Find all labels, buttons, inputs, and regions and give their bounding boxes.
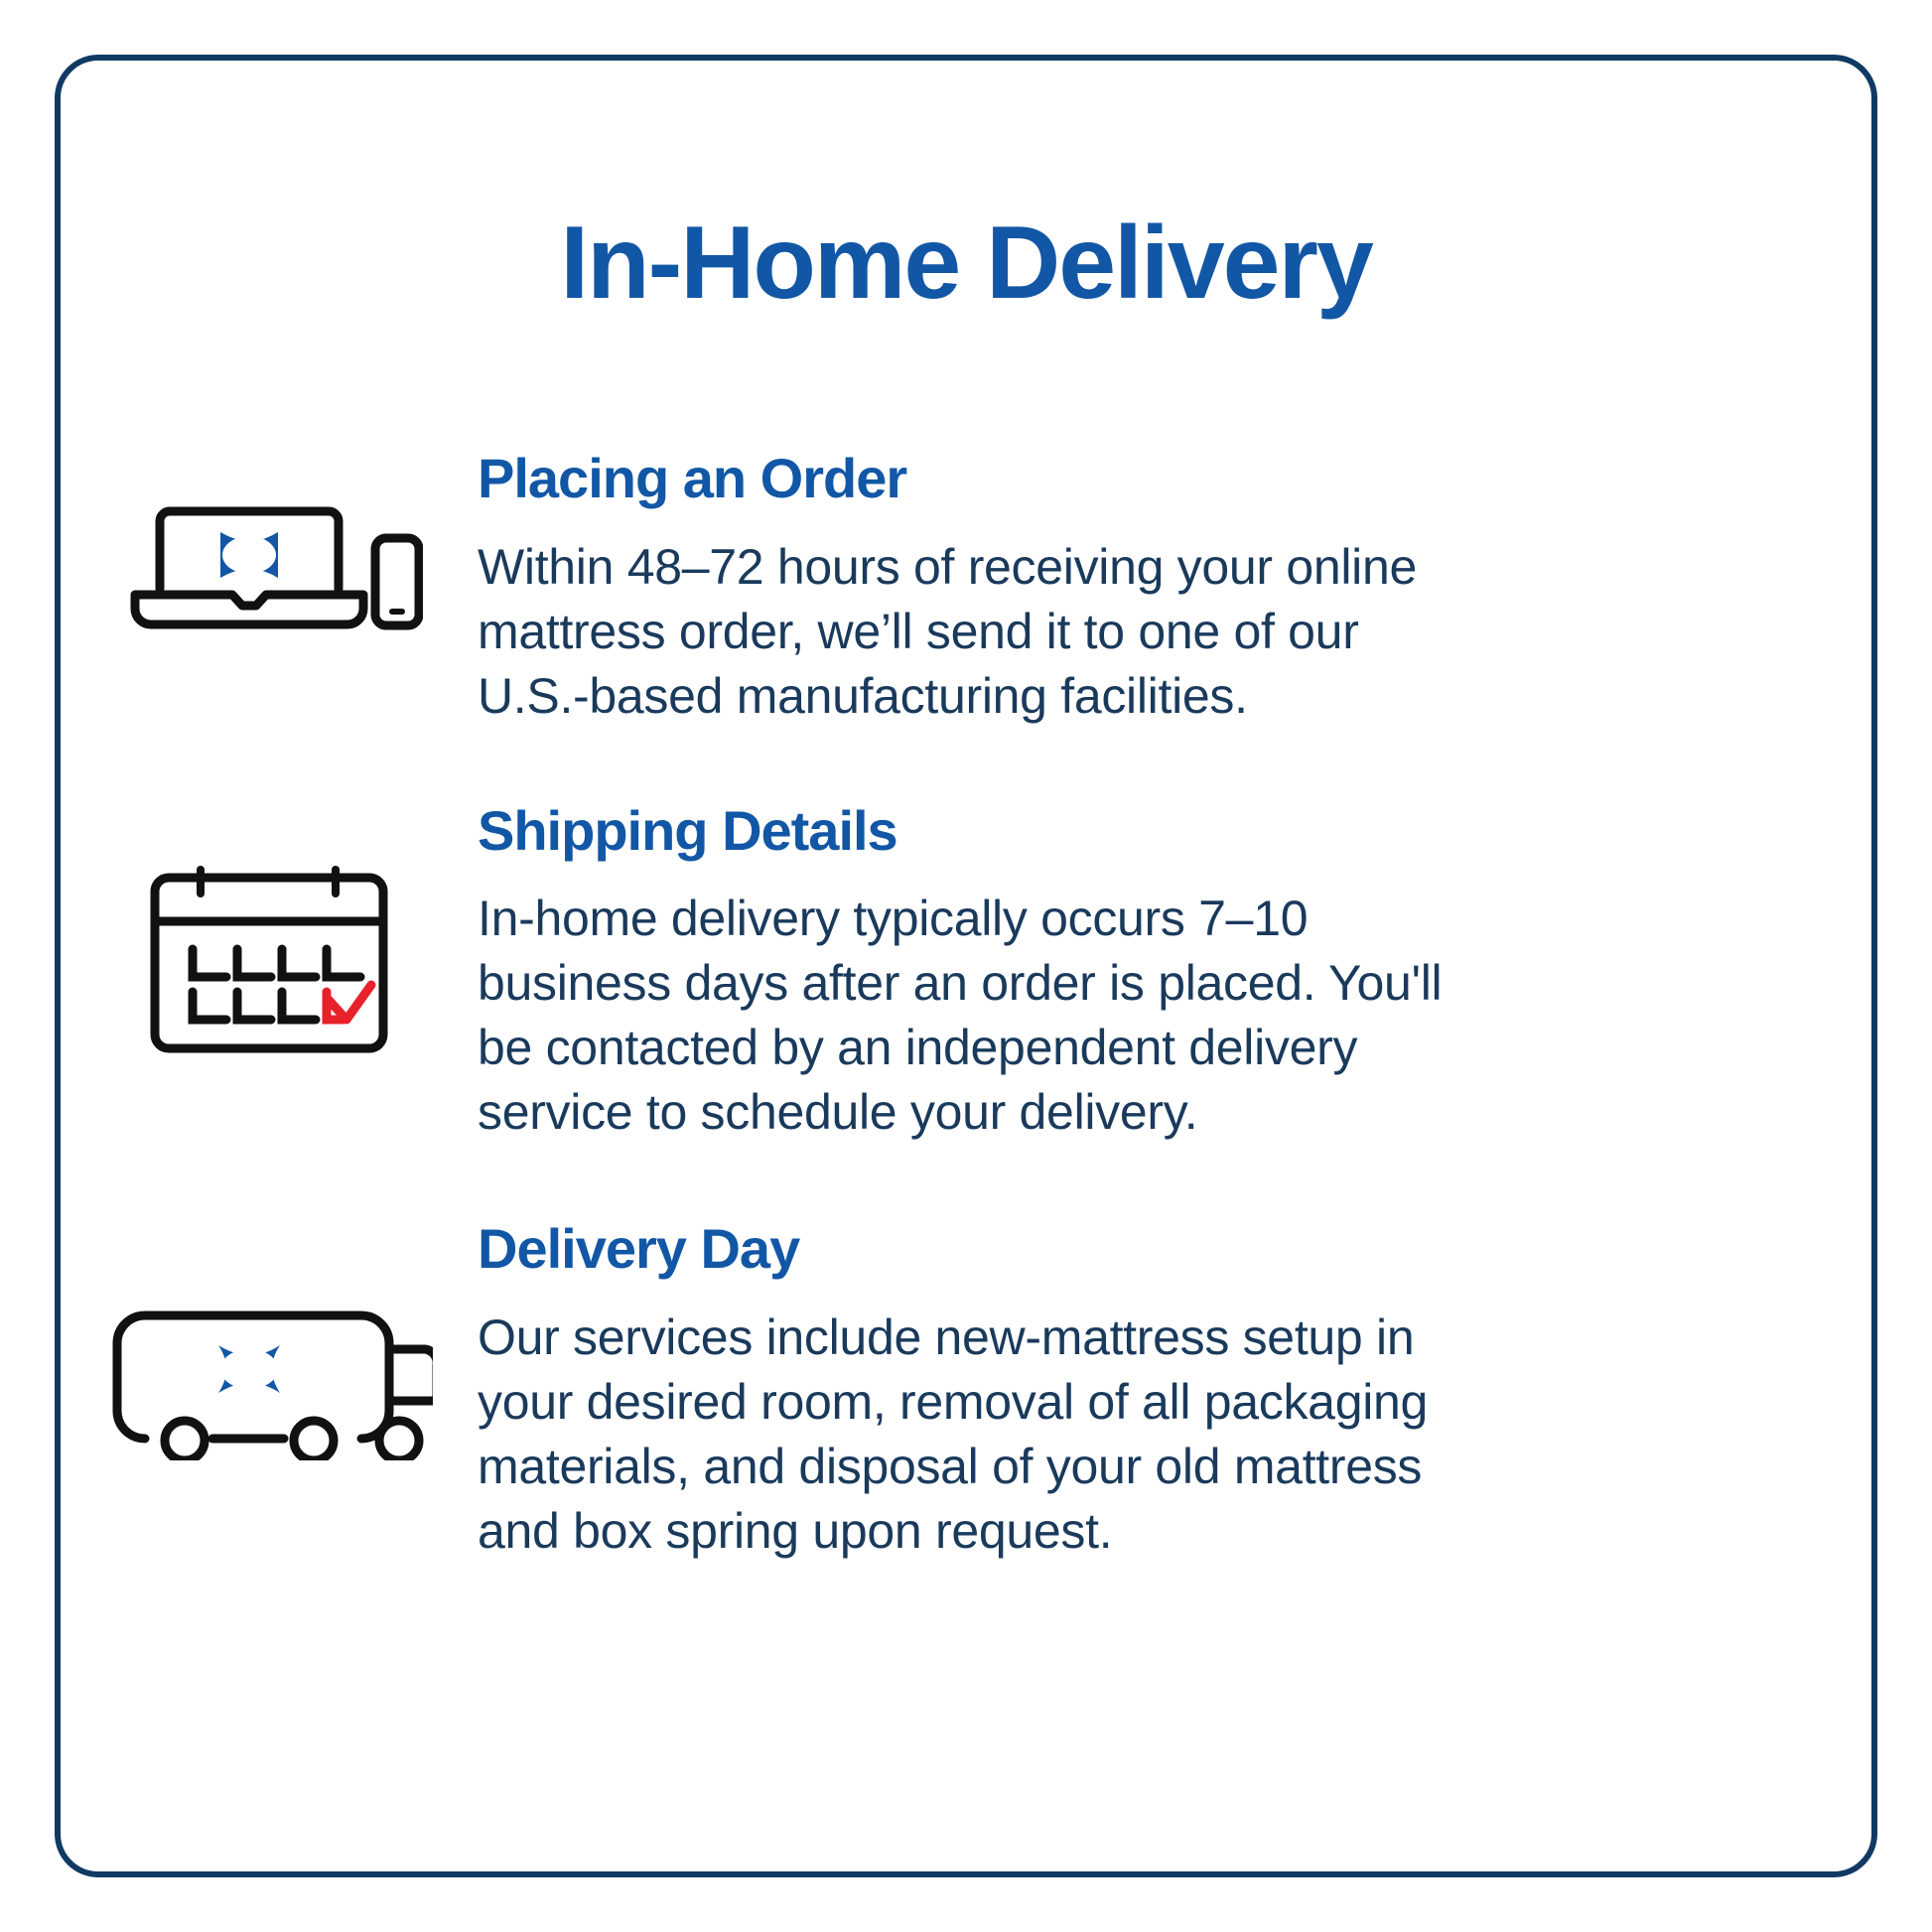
- calendar-row-1: [193, 949, 360, 977]
- sections-list: Placing an Order Within 48–72 hours of r…: [61, 448, 1871, 1564]
- section-body: Within 48–72 hours of receiving your onl…: [478, 535, 1480, 729]
- text-container: Placing an Order Within 48–72 hours of r…: [478, 448, 1871, 729]
- calendar-with-checkmark-icon: [145, 860, 393, 1058]
- section-body: Our services include new-mattress setup …: [478, 1306, 1480, 1564]
- icon-container: [61, 448, 478, 644]
- wheel-icon: [379, 1421, 419, 1460]
- brand-logo-icon: [220, 532, 278, 578]
- section-heading: Placing an Order: [478, 448, 1723, 509]
- icon-container: [61, 800, 478, 1058]
- brand-logo-icon: [218, 1345, 280, 1393]
- page-title: In-Home Delivery: [61, 209, 1871, 318]
- section-body: In-home delivery typically occurs 7–10 b…: [478, 887, 1480, 1145]
- info-card: In-Home Delivery: [55, 55, 1877, 1877]
- icon-container: [61, 1218, 478, 1460]
- laptop-and-phone-icon: [115, 485, 423, 644]
- wheel-icon: [165, 1421, 205, 1460]
- section-delivery-day: Delivery Day Our services include new-ma…: [61, 1218, 1871, 1564]
- section-heading: Shipping Details: [478, 800, 1723, 862]
- section-placing-an-order: Placing an Order Within 48–72 hours of r…: [61, 448, 1871, 729]
- calendar-row-2: [193, 992, 316, 1020]
- section-heading: Delivery Day: [478, 1218, 1723, 1280]
- text-container: Delivery Day Our services include new-ma…: [478, 1218, 1871, 1564]
- wheel-icon: [294, 1421, 334, 1460]
- text-container: Shipping Details In-home delivery typica…: [478, 800, 1871, 1146]
- delivery-truck-icon: [105, 1302, 433, 1460]
- section-shipping-details: Shipping Details In-home delivery typica…: [61, 800, 1871, 1146]
